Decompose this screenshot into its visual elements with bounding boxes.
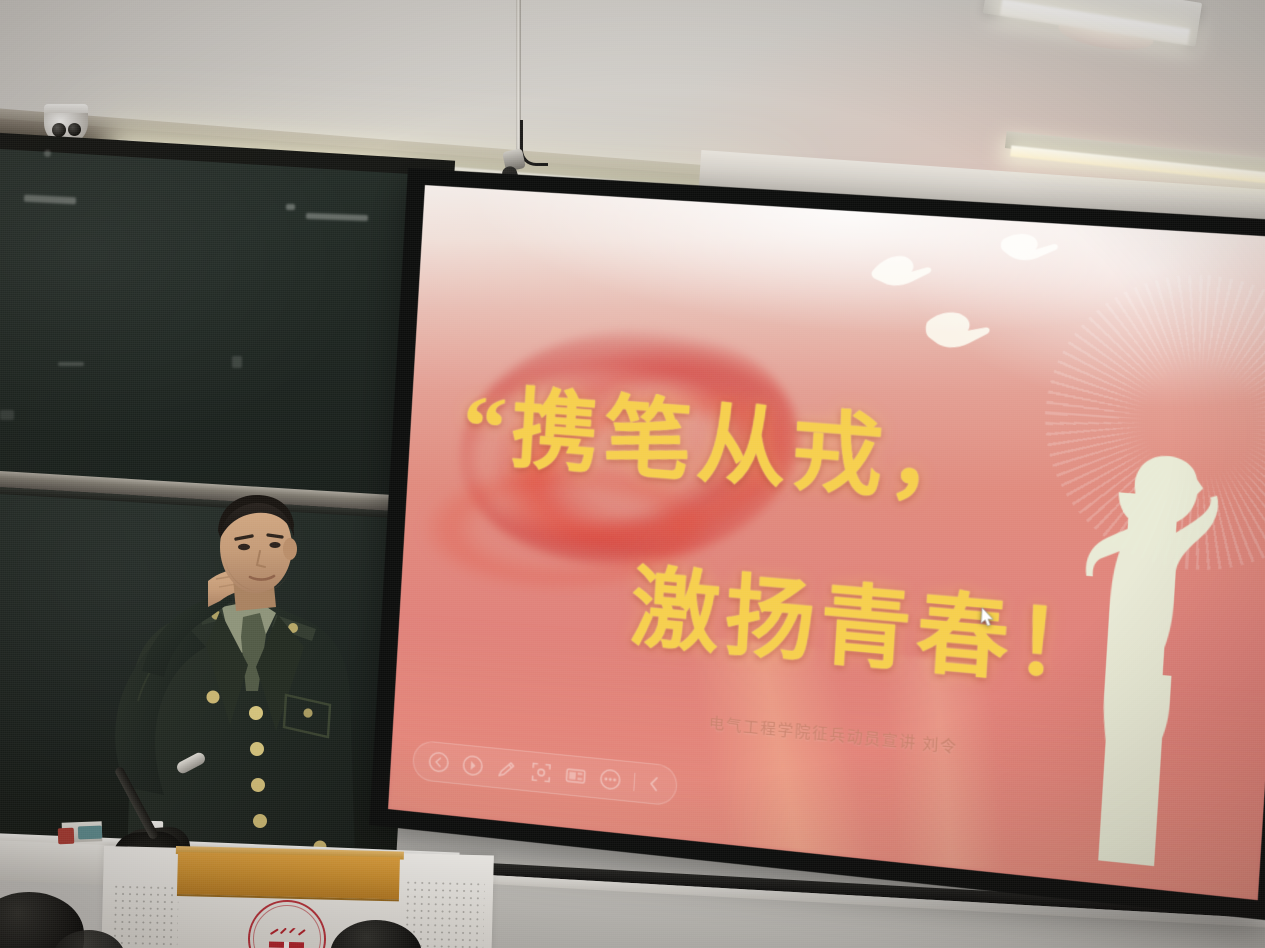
slide-title-line-2: 激扬青春！ xyxy=(628,536,1118,707)
zoom-slide-button[interactable] xyxy=(529,760,553,784)
classroom-photo-scene: “携笔从戎， 激扬青春！ 电气工程学院征兵动员宣讲 刘令 xyxy=(0,0,1265,948)
pen-tool-button[interactable] xyxy=(495,757,518,781)
collapse-bar-button[interactable] xyxy=(647,774,662,794)
next-slide-button[interactable] xyxy=(461,753,484,777)
slide-text-block: “携笔从戎， 激扬青春！ 电气工程学院征兵动员宣讲 刘令 xyxy=(388,185,1265,900)
chalk-mark xyxy=(0,410,14,420)
more-options-button[interactable] xyxy=(598,767,622,791)
all-slides-button[interactable] xyxy=(564,764,588,788)
projection-screen: “携笔从戎， 激扬青春！ 电气工程学院征兵动员宣讲 刘令 xyxy=(369,168,1265,921)
mouse-pointer xyxy=(980,607,995,628)
previous-slide-button[interactable] xyxy=(427,750,450,774)
podium-wood-panel xyxy=(177,852,400,901)
desk-item-red xyxy=(58,828,75,845)
slide-subtitle: 电气工程学院征兵动员宣讲 刘令 xyxy=(708,712,958,758)
slide-title-line-1: “携笔从戎， xyxy=(460,355,990,523)
camera-lens-icon xyxy=(52,123,66,137)
desk-item-teal xyxy=(78,826,102,840)
chalk-speck xyxy=(44,150,51,157)
university-crest-icon xyxy=(263,927,312,948)
chalk-mark xyxy=(58,362,84,366)
podium-speaker-grille xyxy=(111,883,179,948)
powerpoint-slide[interactable]: “携笔从戎， 激扬青春！ 电气工程学院征兵动员宣讲 刘令 xyxy=(388,185,1265,900)
camera-ir-lens-icon xyxy=(68,123,81,136)
toolbar-separator xyxy=(633,773,635,791)
projection-screen-bezel: “携笔从戎， 激扬青春！ 电气工程学院征兵动员宣讲 刘令 xyxy=(369,168,1265,921)
chalk-mark xyxy=(286,204,295,210)
chalk-mark xyxy=(232,356,242,368)
